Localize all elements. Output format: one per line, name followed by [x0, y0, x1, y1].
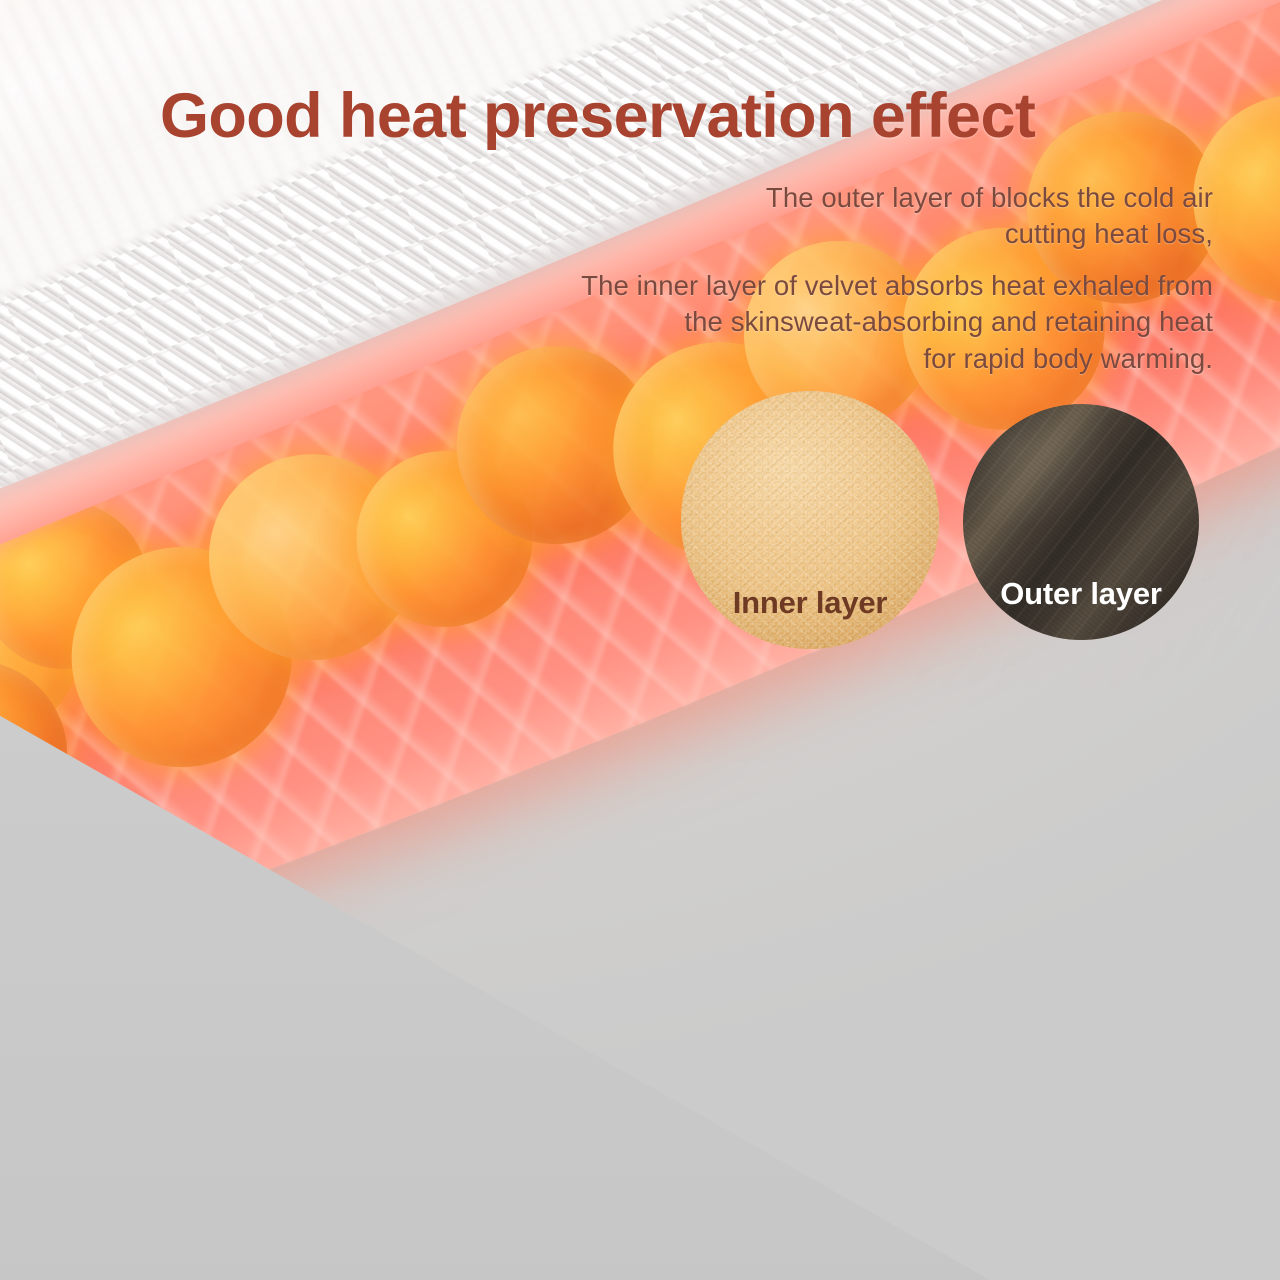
outer-layer-swatch: Outer layer [963, 404, 1199, 640]
page-title: Good heat preservation effect [160, 84, 1216, 148]
inner-layer-description: The inner layer of velvet absorbs heat e… [453, 268, 1213, 377]
product-infographic-poster: Good heat preservation effect The outer … [0, 0, 1280, 1280]
inner-layer-swatch-label: Inner layer [733, 585, 888, 649]
outer-layer-swatch-label: Outer layer [1000, 576, 1162, 640]
inner-layer-swatch: Inner layer [681, 391, 939, 649]
outer-layer-description: The outer layer of blocks the cold air c… [453, 180, 1213, 253]
